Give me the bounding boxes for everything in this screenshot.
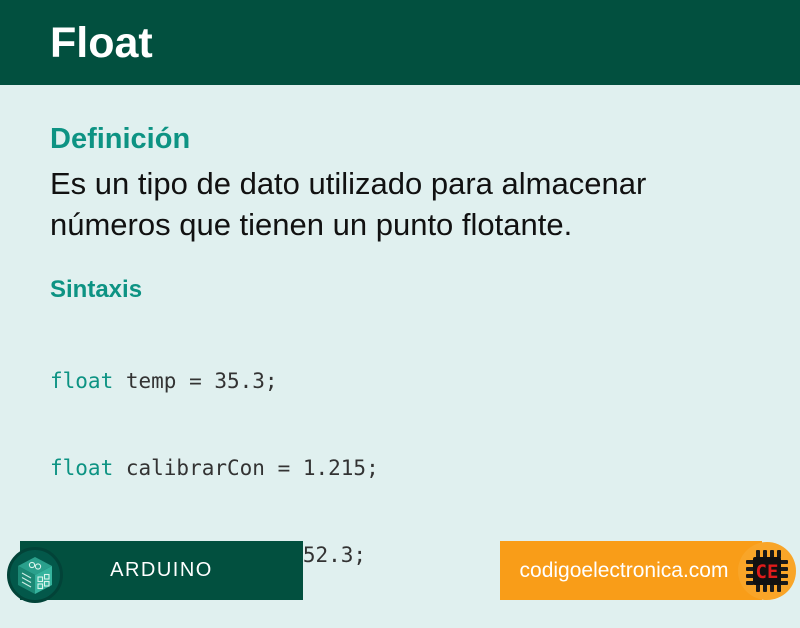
slide-header: Float bbox=[0, 0, 800, 85]
isometric-cube-glyph bbox=[10, 550, 60, 600]
code-rest: calibrarCon = 1.215; bbox=[113, 456, 379, 480]
code-rest: temp = 35.3; bbox=[113, 369, 277, 393]
svg-text:CE: CE bbox=[756, 561, 779, 583]
chip-ce-glyph: CE bbox=[738, 542, 796, 600]
syntax-heading: Sintaxis bbox=[50, 276, 142, 304]
code-keyword: float bbox=[50, 369, 113, 393]
isometric-cube-icon bbox=[7, 547, 63, 603]
slide-body: Definición Es un tipo de dato utilizado … bbox=[0, 85, 800, 541]
chip-ce-icon: CE bbox=[738, 542, 796, 600]
codigoelectronica-label: codigoelectronica.com bbox=[500, 541, 748, 600]
page-title: Float bbox=[50, 18, 153, 68]
code-line: float temp = 35.3; bbox=[50, 367, 379, 396]
code-line: float calibrarCon = 1.215; bbox=[50, 454, 379, 483]
code-keyword: float bbox=[50, 456, 113, 480]
codigoelectronica-banner: codigoelectronica.com bbox=[500, 541, 762, 600]
definition-text: Es un tipo de dato utilizado para almace… bbox=[50, 163, 772, 245]
slide-footer: ARDUINO bbox=[0, 541, 800, 600]
definition-heading: Definición bbox=[50, 122, 190, 156]
